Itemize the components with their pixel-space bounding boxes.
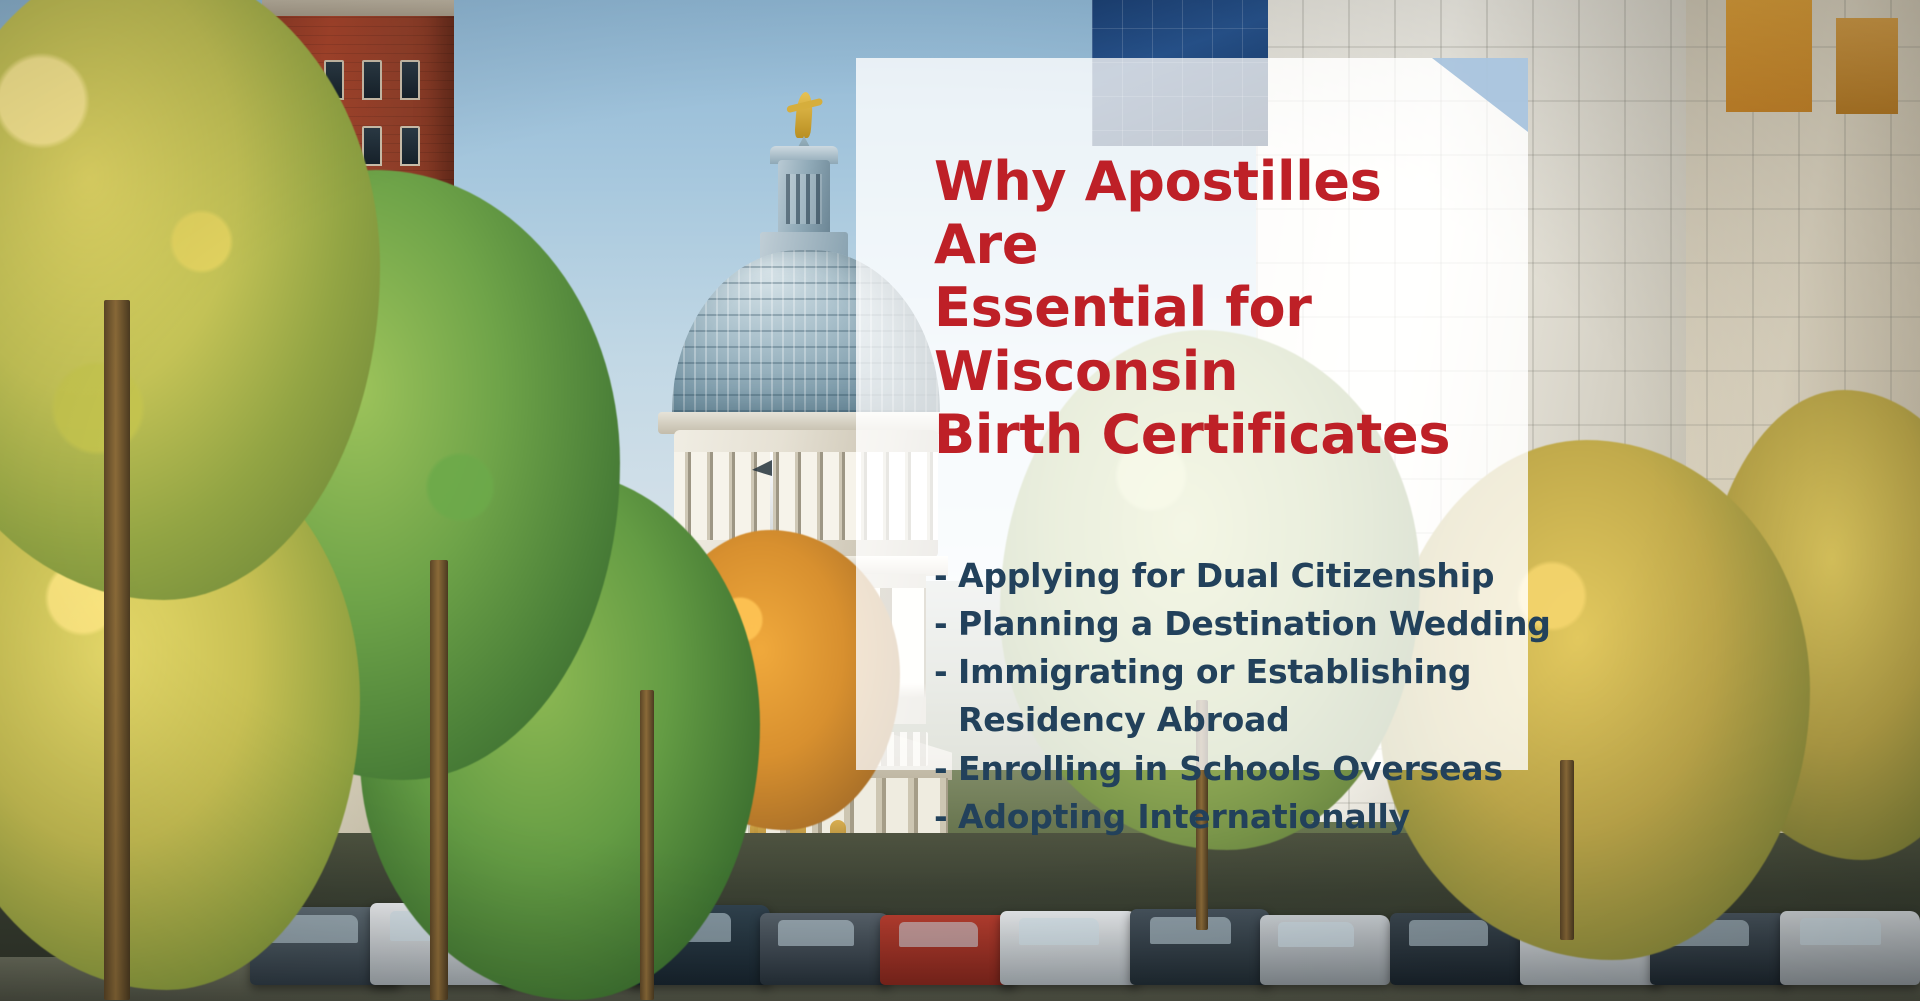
list-item-label: Enrolling in Schools Overseas	[958, 749, 1503, 788]
list-item: -Applying for Dual Citizenship	[934, 552, 1488, 600]
page-title: Why Apostilles Are Essential for Wiscons…	[934, 150, 1488, 466]
list-item-label: Residency Abroad	[958, 700, 1290, 739]
building-amber-panel-2	[1836, 18, 1898, 114]
bullet-dash-icon: -	[934, 600, 958, 648]
folded-corner-icon	[1432, 58, 1528, 132]
list-item-continuation: Residency Abroad	[934, 696, 1488, 744]
parked-car	[760, 913, 890, 985]
list-item: -Adopting Internationally	[934, 793, 1488, 841]
parked-car	[1260, 915, 1390, 985]
bullet-dash-icon: -	[934, 793, 958, 841]
list-item: -Immigrating or Establishing	[934, 648, 1488, 696]
dome-lantern	[778, 160, 830, 236]
wisconsin-statue	[794, 92, 813, 138]
benefits-list: -Applying for Dual Citizenship -Planning…	[934, 552, 1488, 841]
bullet-dash-icon: -	[934, 552, 958, 600]
headline-line-1: Why Apostilles Are	[934, 150, 1382, 276]
headline-line-2: Essential for Wisconsin	[934, 276, 1312, 402]
list-item-label: Applying for Dual Citizenship	[958, 556, 1494, 595]
brick-window	[400, 126, 420, 166]
parked-car	[880, 915, 1016, 985]
hero-banner: Why Apostilles Are Essential for Wiscons…	[0, 0, 1920, 1001]
headline-line-3: Birth Certificates	[934, 403, 1450, 466]
list-item: -Planning a Destination Wedding	[934, 600, 1488, 648]
list-item-label: Adopting Internationally	[958, 797, 1410, 836]
building-amber-panel	[1726, 0, 1812, 112]
tree-trunk	[1560, 760, 1574, 940]
card-content: Why Apostilles Are Essential for Wiscons…	[934, 150, 1488, 841]
parked-car	[1000, 911, 1138, 985]
bullet-dash-icon: -	[934, 648, 958, 696]
brick-window	[362, 60, 382, 100]
list-item: -Enrolling in Schools Overseas	[934, 745, 1488, 793]
brick-window	[362, 126, 382, 166]
parked-car	[1780, 911, 1920, 985]
content-card: Why Apostilles Are Essential for Wiscons…	[856, 58, 1528, 770]
list-item-label: Immigrating or Establishing	[958, 652, 1471, 691]
tree-trunk	[640, 690, 654, 1000]
brick-window	[400, 60, 420, 100]
bullet-dash-icon: -	[934, 745, 958, 793]
tree-trunk	[104, 300, 130, 1000]
list-item-label: Planning a Destination Wedding	[958, 604, 1551, 643]
tree-trunk	[430, 560, 448, 1000]
